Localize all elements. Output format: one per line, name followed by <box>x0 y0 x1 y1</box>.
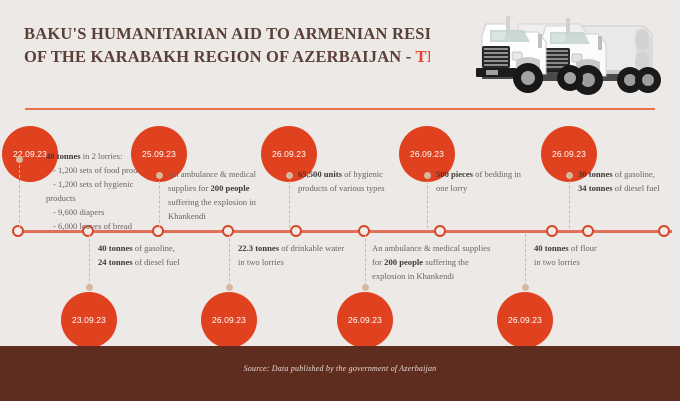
date-bubble-below-3[interactable]: 26.09.23 <box>337 292 393 348</box>
entry-below-2: 22.3 tonnes of drinkable water in two lo… <box>238 242 378 270</box>
stem-dot-below-2 <box>226 284 233 291</box>
title-line-2-main: OF THE KARABAKH REGION OF AZERBAIJAN - <box>24 47 415 66</box>
stem-below-2 <box>229 234 230 286</box>
entry-line: Khankendi <box>168 210 278 224</box>
entry-strong: 500 pieces <box>436 169 473 179</box>
entry-below-4: 40 tonnes of flour in two lorries <box>534 242 654 270</box>
title-line-1: BAKU'S HUMANITARIAN AID TO ARMENIAN RESI… <box>24 22 454 45</box>
stem-dot-below-1 <box>86 284 93 291</box>
entry-line: products of various types <box>298 182 418 196</box>
entry-line: 30 tonnes of gasoline, <box>578 168 678 182</box>
entry-strong: 65,500 units <box>298 169 342 179</box>
truck-illustration <box>430 4 680 108</box>
stem-dot-below-3 <box>362 284 369 291</box>
stem-above-5 <box>569 176 570 228</box>
axis-node <box>658 225 670 237</box>
entry-line: An ambulance & medical <box>168 168 278 182</box>
title-line-2: OF THE KARABAKH REGION OF AZERBAIJAN - T… <box>24 45 454 68</box>
entry-rest: of flour <box>569 243 597 253</box>
entry-line: 500 pieces of bedding in <box>436 168 556 182</box>
entry-strong: 40 tonnes <box>46 151 81 161</box>
entry-rest: supplies for <box>168 183 211 193</box>
entry-above-4: 500 pieces of bedding in one lorry <box>436 168 556 196</box>
axis-node <box>12 225 24 237</box>
entry-rest: of drinkable water <box>279 243 344 253</box>
entry-rest: for <box>372 257 384 267</box>
entry-line: in two lorries <box>534 256 654 270</box>
entry-line: explosion in Khankendi <box>372 270 537 284</box>
stem-below-3 <box>365 234 366 286</box>
entry-line: 34 tonnes of diesel fuel <box>578 182 678 196</box>
stem-below-4 <box>525 234 526 286</box>
entry-rest: of diesel fuel <box>613 183 660 193</box>
entry-strong: 30 tonnes <box>578 169 613 179</box>
axis-node <box>546 225 558 237</box>
entry-above-3: 65,500 units of hygienic products of var… <box>298 168 418 196</box>
date-bubble-below-4[interactable]: 26.09.23 <box>497 292 553 348</box>
stem-dot-above-4 <box>424 172 431 179</box>
stem-dot-above-5 <box>566 172 573 179</box>
stem-dot-below-4 <box>522 284 529 291</box>
entry-rest: of diesel fuel <box>133 257 180 267</box>
header-divider <box>25 108 655 110</box>
entry-line: 40 tonnes of flour <box>534 242 654 256</box>
entry-line: one lorry <box>436 182 556 196</box>
entry-strong: 40 tonnes <box>534 243 569 253</box>
entry-strong: 34 tonnes <box>578 183 613 193</box>
axis-node <box>358 225 370 237</box>
entry-below-3: An ambulance & medical supplies for 200 … <box>372 242 537 284</box>
entry-line: An ambulance & medical supplies <box>372 242 537 256</box>
entry-rest: of bedding in <box>473 169 521 179</box>
entry-line: suffering the explosion in <box>168 196 278 210</box>
date-bubble-below-1[interactable]: 23.09.23 <box>61 292 117 348</box>
entry-line: 22.3 tonnes of drinkable water <box>238 242 378 256</box>
entry-line: 65,500 units of hygienic <box>298 168 418 182</box>
axis-node <box>434 225 446 237</box>
axis-node <box>582 225 594 237</box>
date-bubble-below-2[interactable]: 26.09.23 <box>201 292 257 348</box>
entry-rest: in 2 lorries: <box>81 151 123 161</box>
page-title: BAKU'S HUMANITARIAN AID TO ARMENIAN RESI… <box>24 22 454 69</box>
axis-node <box>290 225 302 237</box>
entry-rest: of hygienic <box>342 169 383 179</box>
entry-rest: of gasoline, <box>133 243 175 253</box>
entry-strong: 22.3 tonnes <box>238 243 279 253</box>
stem-dot-above-3 <box>286 172 293 179</box>
stem-dot-above-2 <box>156 172 163 179</box>
trucks-image <box>430 4 680 108</box>
stem-above-1 <box>19 160 20 228</box>
stem-dot-above-1 <box>16 156 23 163</box>
infographic-canvas: BAKU'S HUMANITARIAN AID TO ARMENIAN RESI… <box>0 0 680 401</box>
entry-above-5: 30 tonnes of gasoline, 34 tonnes of dies… <box>578 168 678 196</box>
entry-strong: 200 people <box>211 183 250 193</box>
entry-line: supplies for 200 people <box>168 182 278 196</box>
source-attribution: Source: Data published by the government… <box>0 364 680 373</box>
entry-above-2: An ambulance & medical supplies for 200 … <box>168 168 278 224</box>
entry-below-1: 40 tonnes of gasoline, 24 tonnes of dies… <box>98 242 228 270</box>
stem-above-4 <box>427 176 428 228</box>
stem-above-3 <box>289 176 290 228</box>
entry-strong: 40 tonnes <box>98 243 133 253</box>
entry-strong: 24 tonnes <box>98 257 133 267</box>
entry-line: for 200 people suffering the <box>372 256 537 270</box>
entry-line: in two lorries <box>238 256 378 270</box>
entry-rest: suffering the <box>423 257 469 267</box>
footer-bar: Source: Data published by the government… <box>0 346 680 401</box>
entry-line: 24 tonnes of diesel fuel <box>98 256 228 270</box>
entry-rest: of gasoline, <box>613 169 655 179</box>
entry-strong: 200 people <box>384 257 423 267</box>
entry-line: 40 tonnes of gasoline, <box>98 242 228 256</box>
stem-above-2 <box>159 176 160 228</box>
stem-below-1 <box>89 234 90 286</box>
